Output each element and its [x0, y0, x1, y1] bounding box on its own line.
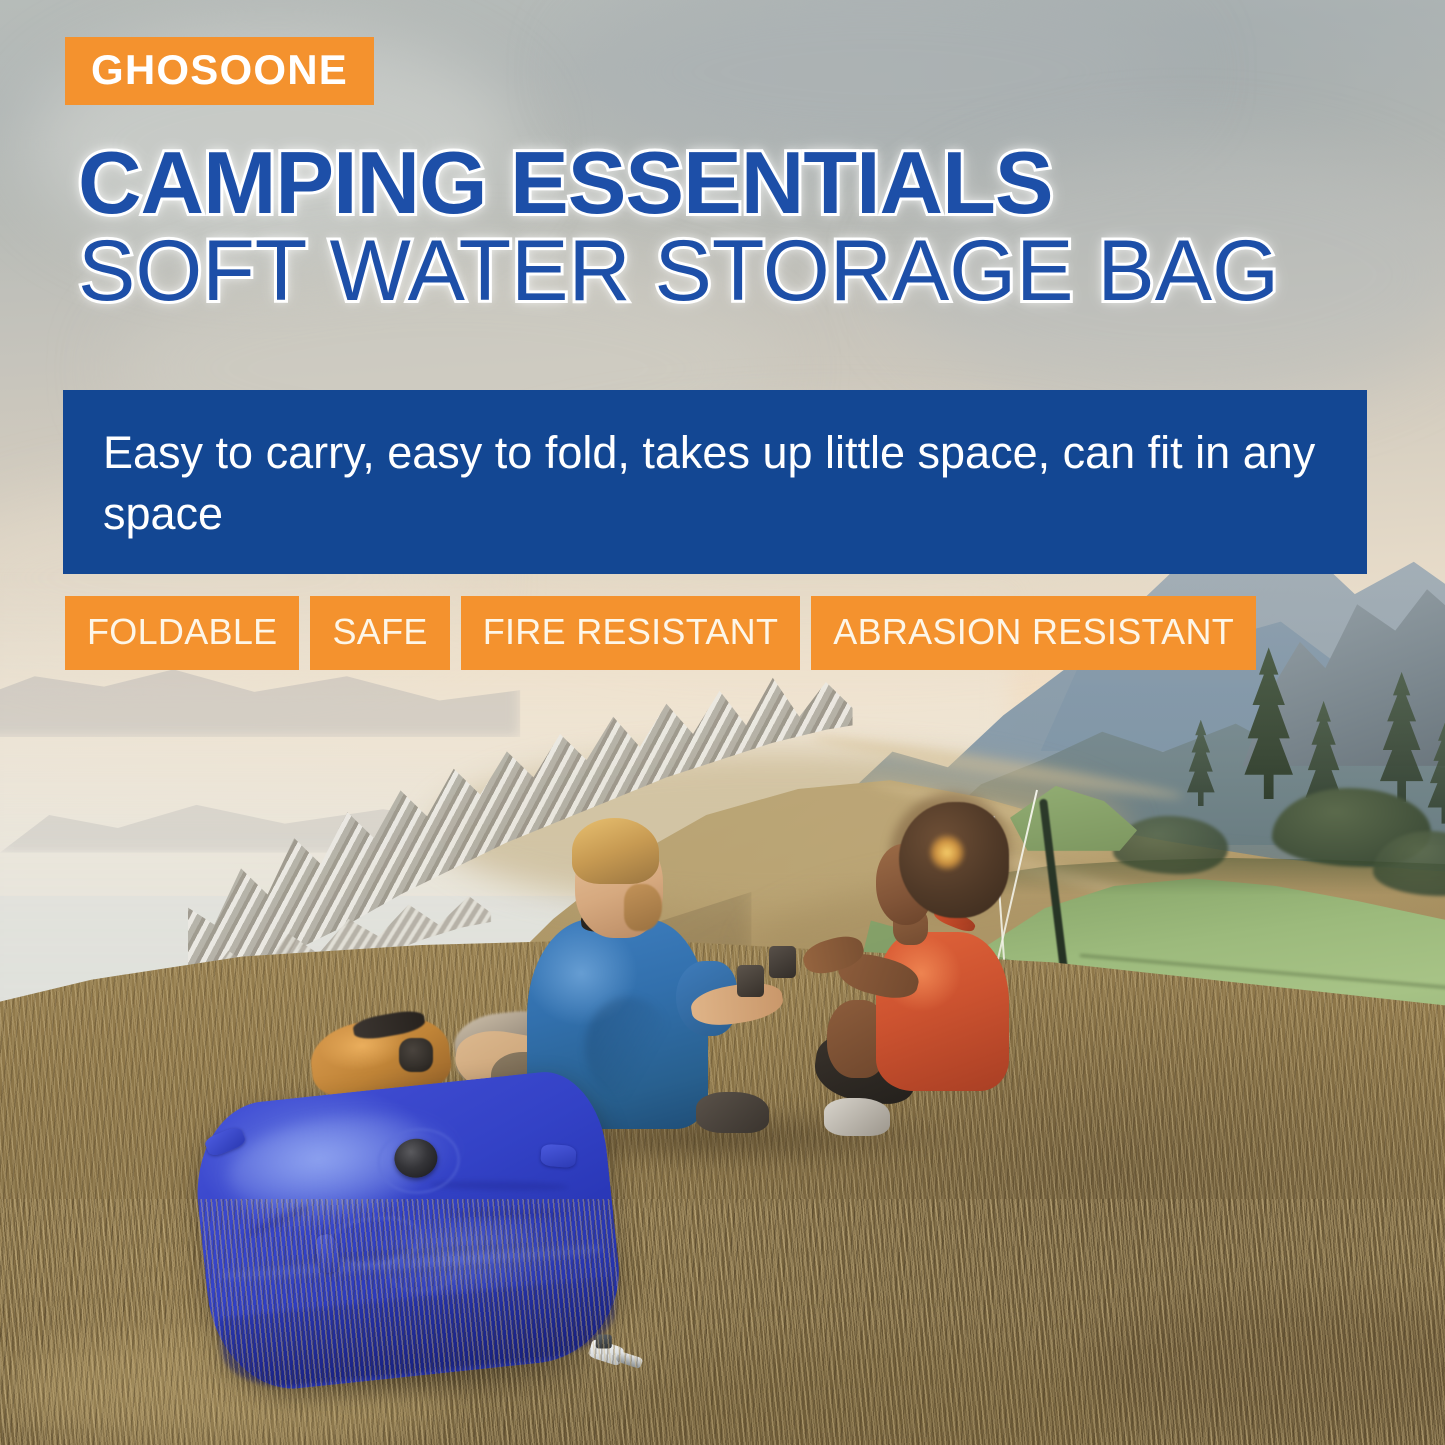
feature-tag-abrasion-resistant: ABRASION RESISTANT: [811, 596, 1256, 670]
brand-badge: GHOSOONE: [65, 37, 374, 105]
headline-block: CAMPING ESSENTIALS SOFT WATER STORAGE BA…: [78, 140, 1279, 314]
brand-name: GHOSOONE: [91, 46, 348, 93]
headline-primary: CAMPING ESSENTIALS: [78, 140, 1279, 226]
product-marketing-poster: GHOSOONE CAMPING ESSENTIALS SOFT WATER S…: [0, 0, 1445, 1445]
feature-tag-fire-resistant: FIRE RESISTANT: [461, 596, 801, 670]
description-box: Easy to carry, easy to fold, takes up li…: [63, 390, 1367, 574]
feature-tag-row: FOLDABLE SAFE FIRE RESISTANT ABRASION RE…: [65, 596, 1256, 670]
headline-secondary: SOFT WATER STORAGE BAG: [78, 228, 1279, 314]
text-overlay: GHOSOONE CAMPING ESSENTIALS SOFT WATER S…: [0, 0, 1445, 1445]
description-text: Easy to carry, easy to fold, takes up li…: [103, 422, 1331, 544]
feature-tag-safe: SAFE: [310, 596, 449, 670]
feature-tag-foldable: FOLDABLE: [65, 596, 299, 670]
